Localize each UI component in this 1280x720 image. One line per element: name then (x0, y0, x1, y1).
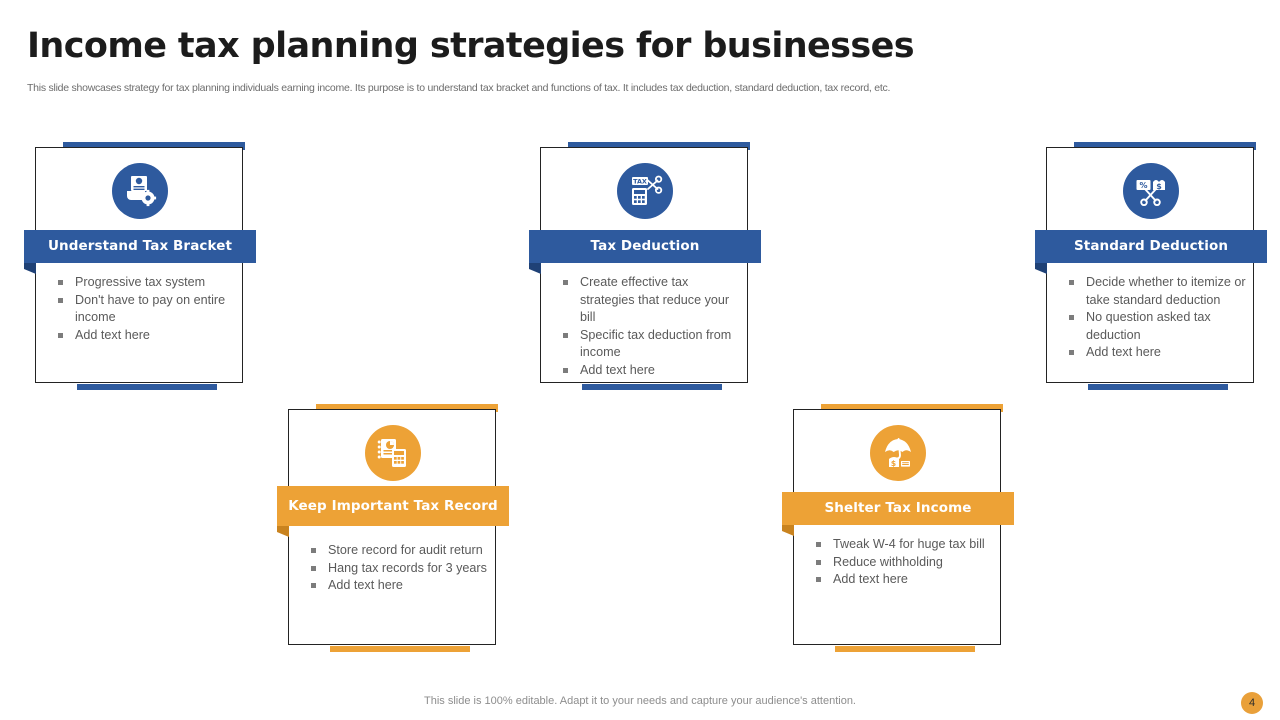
list-item: Progressive tax system (54, 274, 236, 292)
list-item-label: Hang tax records for 3 years (328, 561, 487, 575)
bullet-icon (1069, 315, 1074, 320)
ribbon-fold (1035, 263, 1047, 274)
svg-text:%: % (1139, 181, 1147, 190)
bullet-icon (816, 560, 821, 565)
card-bottom-accent (1088, 384, 1228, 390)
bullet-icon (563, 368, 568, 373)
svg-text:$: $ (1156, 182, 1162, 191)
card-body: % $ Standard Deduction Decide whether to… (1046, 147, 1254, 383)
list-item: Don't have to pay on entire income (54, 292, 236, 327)
page-number-badge: 4 (1241, 692, 1263, 714)
list-item-label: Tweak W-4 for huge tax bill (833, 537, 985, 551)
list-item: Add text here (307, 577, 489, 595)
bullet-icon (563, 280, 568, 285)
ribbon-fold (529, 263, 541, 274)
list-item: No question asked tax deduction (1065, 309, 1247, 344)
card-body: $ Shelter Tax Income Tweak W-4 for huge … (793, 409, 1001, 645)
card-title: Tax Deduction (529, 230, 761, 263)
list-item: Specific tax deduction from income (559, 327, 741, 362)
list-item: Add text here (1065, 344, 1247, 362)
bullet-icon (58, 333, 63, 338)
percent-money-scissors-icon: % $ (1123, 163, 1179, 219)
card-standard-deduction[interactable]: % $ Standard Deduction Decide whether to… (1046, 142, 1256, 390)
list-item: Add text here (559, 362, 741, 380)
list-item-label: Specific tax deduction from income (580, 328, 731, 360)
list-item: Store record for audit return (307, 542, 489, 560)
list-item: Add text here (812, 571, 994, 589)
footer-note: This slide is 100% editable. Adapt it to… (0, 695, 1280, 707)
list-item-label: Add text here (833, 572, 908, 586)
card-body: Understand Tax Bracket Progressive tax s… (35, 147, 243, 383)
card-bullet-list: Create effective tax strategies that red… (559, 274, 741, 379)
card-tax-deduction[interactable]: TAX (540, 142, 750, 390)
bullet-icon (58, 280, 63, 285)
card-bottom-accent (77, 384, 217, 390)
ribbon-fold (24, 263, 36, 274)
card-keep-important-tax-record[interactable]: Keep Important Tax Record Store record f… (288, 404, 498, 652)
card-shelter-tax-income[interactable]: $ Shelter Tax Income Tweak W-4 for huge … (793, 404, 1003, 652)
list-item-label: Add text here (328, 578, 403, 592)
list-item-label: Add text here (75, 328, 150, 342)
card-icon: % $ (1047, 160, 1255, 222)
document-gear-icon (112, 163, 168, 219)
list-item-label: Reduce withholding (833, 555, 943, 569)
card-body: Keep Important Tax Record Store record f… (288, 409, 496, 645)
card-title: Understand Tax Bracket (24, 230, 256, 263)
list-item-label: Store record for audit return (328, 543, 483, 557)
list-item: Decide whether to itemize or take standa… (1065, 274, 1247, 309)
card-title: Keep Important Tax Record (277, 486, 509, 526)
card-icon: $ (794, 422, 1002, 484)
list-item-label: Create effective tax strategies that red… (580, 275, 729, 324)
page-title: Income tax planning strategies for busin… (27, 26, 914, 66)
card-bullet-list: Progressive tax system Don't have to pay… (54, 274, 236, 344)
bullet-icon (1069, 350, 1074, 355)
tax-scissors-calculator-icon: TAX (617, 163, 673, 219)
list-item: Tweak W-4 for huge tax bill (812, 536, 994, 554)
list-item: Hang tax records for 3 years (307, 560, 489, 578)
card-icon (289, 422, 497, 484)
card-bottom-accent (330, 646, 470, 652)
bullet-icon (311, 583, 316, 588)
card-bullet-list: Tweak W-4 for huge tax bill Reduce withh… (812, 536, 994, 589)
list-item-label: Add text here (1086, 345, 1161, 359)
records-calculator-icon (365, 425, 421, 481)
card-title: Shelter Tax Income (782, 492, 1014, 525)
page-subtitle: This slide showcases strategy for tax pl… (27, 82, 890, 94)
card-body: TAX (540, 147, 748, 383)
bullet-icon (816, 542, 821, 547)
bullet-icon (816, 577, 821, 582)
card-title: Standard Deduction (1035, 230, 1267, 263)
bullet-icon (311, 566, 316, 571)
list-item: Reduce withholding (812, 554, 994, 572)
card-bottom-accent (835, 646, 975, 652)
bullet-icon (563, 333, 568, 338)
list-item: Add text here (54, 327, 236, 345)
bullet-icon (58, 298, 63, 303)
bullet-icon (1069, 280, 1074, 285)
list-item-label: Decide whether to itemize or take standa… (1086, 275, 1246, 307)
ribbon-fold (782, 525, 794, 536)
list-item-label: Don't have to pay on entire income (75, 293, 225, 325)
card-bottom-accent (582, 384, 722, 390)
card-icon: TAX (541, 160, 749, 222)
card-icon (36, 160, 244, 222)
svg-text:TAX: TAX (633, 178, 647, 186)
bullet-icon (311, 548, 316, 553)
card-bullet-list: Decide whether to itemize or take standa… (1065, 274, 1247, 362)
card-understand-tax-bracket[interactable]: Understand Tax Bracket Progressive tax s… (35, 142, 245, 390)
ribbon-fold (277, 526, 289, 537)
list-item-label: Progressive tax system (75, 275, 205, 289)
card-bullet-list: Store record for audit return Hang tax r… (307, 542, 489, 595)
list-item-label: Add text here (580, 363, 655, 377)
list-item-label: No question asked tax deduction (1086, 310, 1211, 342)
umbrella-money-icon: $ (870, 425, 926, 481)
svg-text:$: $ (891, 459, 896, 468)
list-item: Create effective tax strategies that red… (559, 274, 741, 327)
